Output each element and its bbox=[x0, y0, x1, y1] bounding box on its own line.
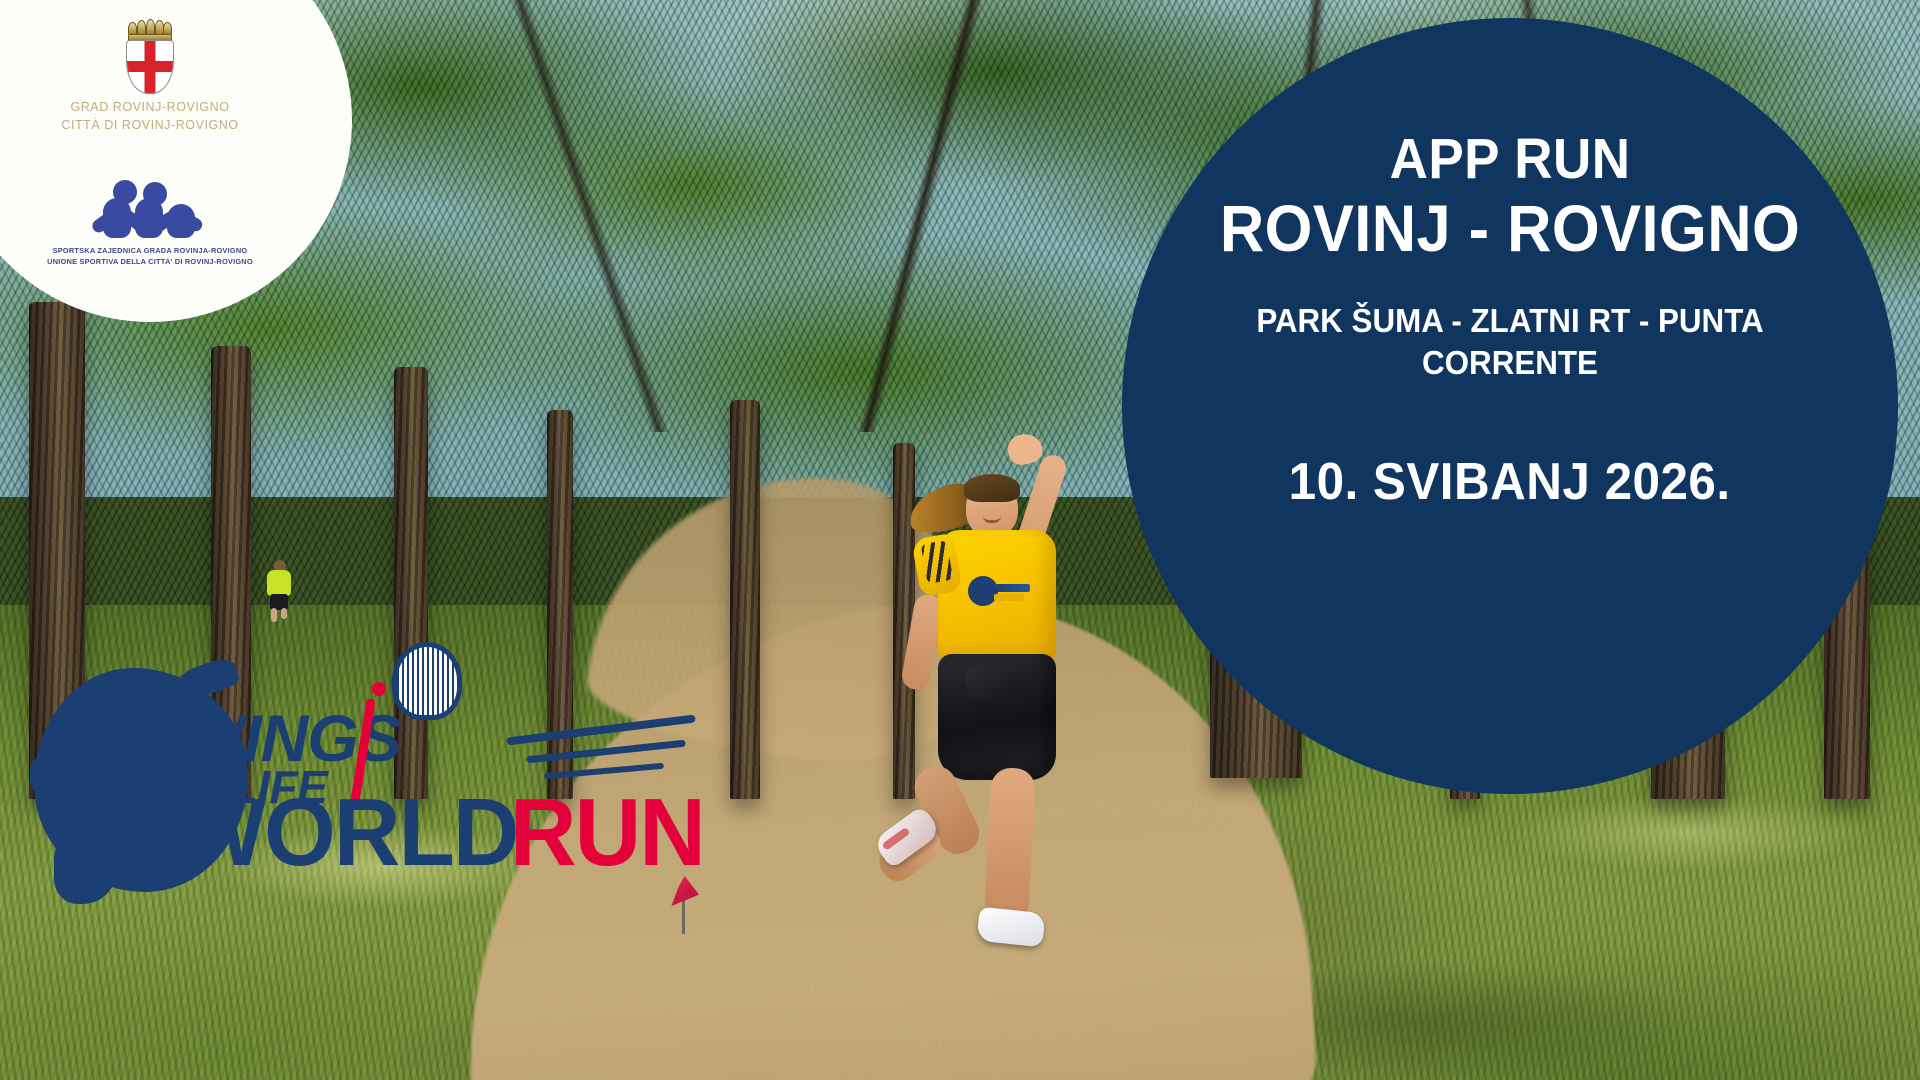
distant-runner bbox=[263, 560, 297, 622]
crest-caption: GRAD ROVINJ-ROVIGNO CITTÀ DI ROVINJ-ROVI… bbox=[61, 98, 238, 134]
people-body bbox=[167, 204, 195, 238]
event-date: 10. SVIBANJ 2026. bbox=[1289, 454, 1731, 511]
crest-line-hr: GRAD ROVINJ-ROVIGNO bbox=[61, 98, 238, 116]
event-poster: GRAD ROVINJ-ROVIGNO CITTÀ DI ROVINJ-ROVI… bbox=[0, 0, 1920, 1080]
wings-for-life-script: WINGS FOR LIFE bbox=[176, 656, 586, 796]
event-location: PARK ŠUMA - ZLATNI RT - PUNTA CORRENTE bbox=[1206, 300, 1814, 384]
helmet-shape bbox=[392, 642, 462, 720]
run-wordmark: RUN bbox=[510, 778, 704, 888]
runner-front-leg bbox=[984, 767, 1036, 919]
rovinj-coat-of-arms-icon bbox=[120, 22, 180, 94]
union-line-it: UNIONE SPORTIVA DELLA CITTA' DI ROVINJ-R… bbox=[47, 256, 253, 267]
tree-trunk bbox=[730, 400, 760, 800]
crown-point bbox=[137, 20, 146, 35]
crown-point bbox=[146, 19, 155, 35]
shirt-logo-globe-icon bbox=[968, 576, 998, 606]
crest-line-it: CITTÀ DI ROVINJ-ROVIGNO bbox=[61, 116, 238, 134]
sports-union-logo: SPORTSKA ZAJEDNICA GRADA ROVINJA-ROVIGNO… bbox=[47, 180, 253, 267]
event-title-line1: APP RUN bbox=[1220, 128, 1800, 192]
world-wordmark: WORLD bbox=[179, 778, 517, 888]
wings-for-life-world-run-logo: WINGS FOR LIFE WORLD RUN bbox=[26, 630, 586, 910]
red-accent-dot bbox=[372, 682, 386, 696]
shirt-logo-wordmark-2 bbox=[994, 594, 1024, 601]
runner-hair-top bbox=[964, 474, 1020, 502]
winged-helmet-icon bbox=[392, 642, 462, 720]
distant-runner-leg bbox=[281, 608, 287, 619]
event-info-circle: APP RUN ROVINJ - ROVIGNO PARK ŠUMA - ZLA… bbox=[1122, 18, 1898, 794]
shirt-logo-wordmark bbox=[996, 584, 1030, 592]
flag-pole bbox=[682, 898, 685, 934]
distant-runner-leg bbox=[271, 608, 277, 622]
event-title: APP RUN ROVINJ - ROVIGNO bbox=[1220, 128, 1800, 266]
crown-icon bbox=[128, 22, 172, 42]
shield-with-red-cross-icon bbox=[126, 40, 174, 94]
people-body bbox=[135, 198, 163, 238]
event-title-line2: ROVINJ - ROVIGNO bbox=[1220, 192, 1800, 266]
runner-figure bbox=[880, 468, 1110, 978]
union-line-hr: SPORTSKA ZAJEDNICA GRADA ROVINJA-ROVIGNO bbox=[47, 245, 253, 256]
people-body bbox=[103, 198, 131, 238]
union-caption: SPORTSKA ZAJEDNICA GRADA ROVINJA-ROVIGNO… bbox=[47, 245, 253, 267]
three-people-icon bbox=[91, 180, 209, 238]
globe-landmass bbox=[54, 834, 118, 904]
distant-runner-shirt bbox=[267, 570, 291, 596]
runner-shirt-logo bbox=[968, 572, 1030, 614]
runner-front-shoe bbox=[976, 907, 1045, 948]
globe-landmass bbox=[30, 754, 84, 800]
